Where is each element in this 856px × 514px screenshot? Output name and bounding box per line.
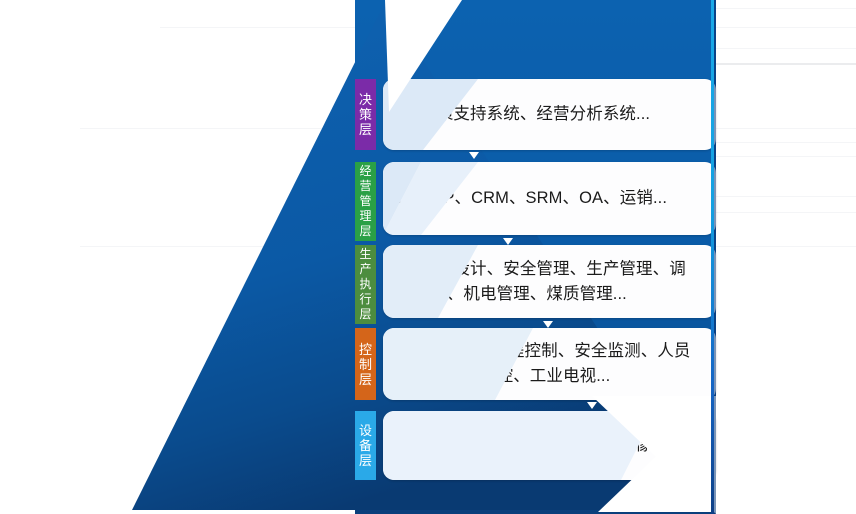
chevron-down-icon-l4	[503, 238, 513, 245]
level-tab-l5[interactable]: 决 策 层	[355, 79, 376, 150]
level-card-l1[interactable]: L1:传感器、PLC、智能仪表、摄像头...	[383, 411, 716, 480]
tab-char: 执	[359, 277, 371, 292]
tab-char: 营	[359, 179, 371, 194]
tab-char: 产	[359, 262, 371, 277]
tab-char: 层	[359, 122, 372, 137]
level-text-l2: L2: 生产运输过程控制、安全监测、人员定位、火灾监控、工业电视...	[383, 339, 716, 389]
level-tab-l1[interactable]: 设 备 层	[355, 411, 376, 480]
level-text-l4: L4:ERP、CRM、SRM、OA、运销...	[383, 186, 681, 211]
level-card-l4[interactable]: L4:ERP、CRM、SRM、OA、运销...	[383, 162, 716, 235]
tab-char: 制	[359, 357, 372, 372]
level-tab-l3[interactable]: 生 产 执 行 层	[355, 245, 376, 324]
tab-char: 生	[359, 247, 371, 262]
diagram-canvas: 决 策 层 L5:决策支持系统、经营分析系统... 经 营 管 理 层	[0, 0, 856, 514]
level-card-l3[interactable]: L3:工程设计、安全管理、生产管理、调度指挥、机电管理、煤质管理...	[383, 245, 716, 318]
level-text-l1: L1:传感器、PLC、智能仪表、摄像头...	[383, 433, 697, 458]
level-card-l5[interactable]: L5:决策支持系统、经营分析系统...	[383, 79, 716, 150]
tab-char: 理	[359, 209, 371, 224]
tab-char: 层	[359, 372, 372, 387]
tab-char: 管	[359, 194, 371, 209]
chevron-down-icon-l3	[543, 321, 553, 328]
panel-right-edge-shadow-top	[714, 0, 716, 514]
tab-char: 层	[359, 453, 372, 468]
tab-char: 决	[359, 92, 372, 107]
chevron-down-icon-l5	[469, 152, 479, 159]
tab-char: 行	[359, 292, 371, 307]
tab-char: 设	[359, 423, 372, 438]
tab-char: 层	[359, 307, 371, 322]
level-text-l3: L3:工程设计、安全管理、生产管理、调度指挥、机电管理、煤质管理...	[383, 257, 716, 307]
tab-char: 层	[359, 224, 371, 239]
level-tab-l2[interactable]: 控 制 层	[355, 328, 376, 400]
level-text-l5: L5:决策支持系统、经营分析系统...	[383, 102, 664, 127]
tab-char: 策	[359, 107, 372, 122]
tab-char: 经	[359, 164, 371, 179]
chevron-down-icon-l2	[587, 402, 597, 409]
level-rows: 决 策 层 L5:决策支持系统、经营分析系统... 经 营 管 理 层	[355, 0, 716, 514]
level-card-l2[interactable]: L2: 生产运输过程控制、安全监测、人员定位、火灾监控、工业电视...	[383, 328, 716, 400]
tab-char: 备	[359, 438, 372, 453]
tab-char: 控	[359, 342, 372, 357]
level-tab-l4[interactable]: 经 营 管 理 层	[355, 162, 376, 241]
